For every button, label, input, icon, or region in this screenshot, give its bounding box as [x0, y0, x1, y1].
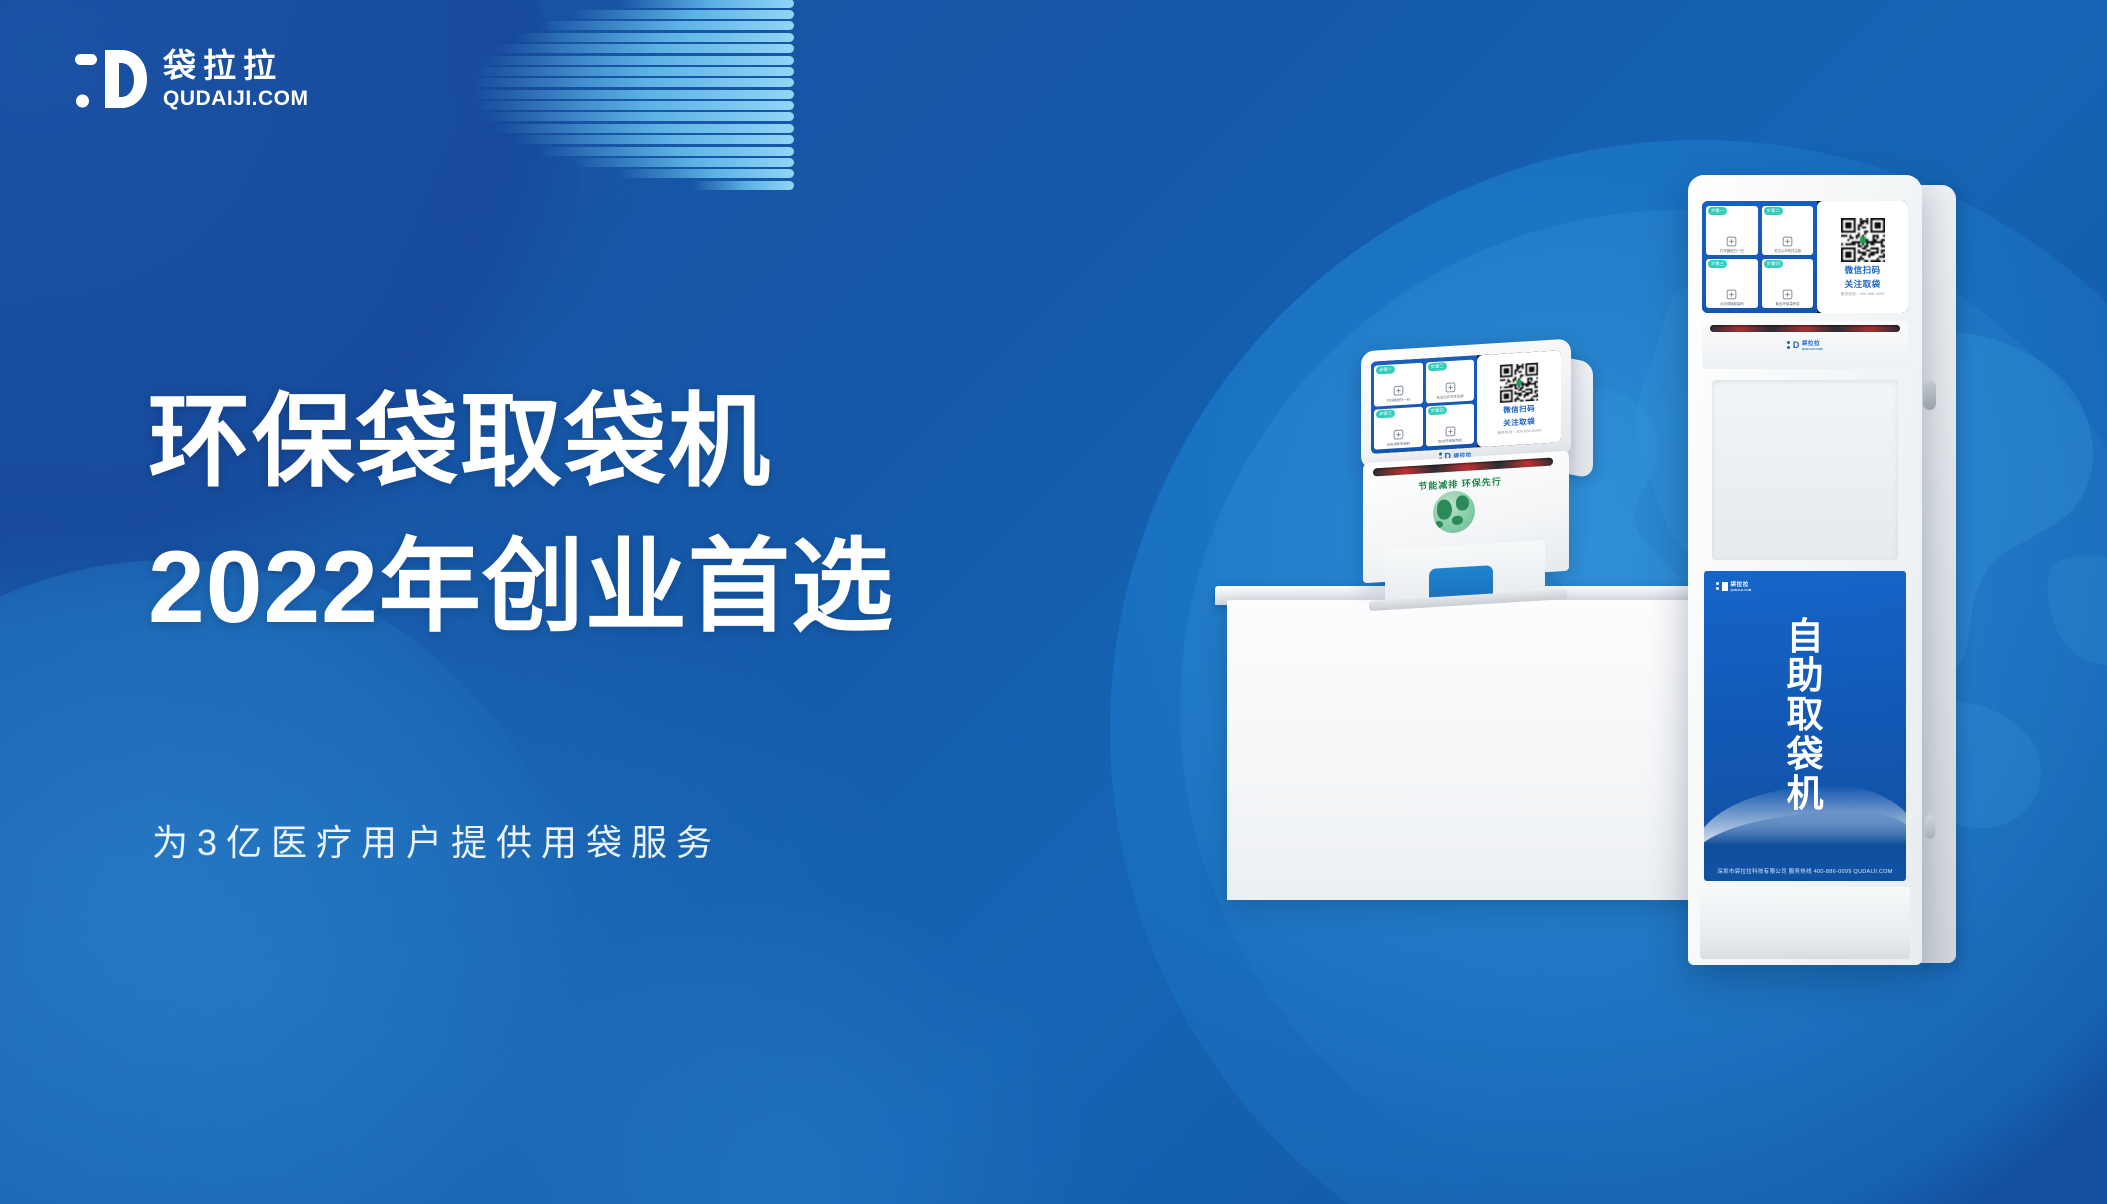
- qr-title-line-1: 微信扫码: [1845, 264, 1881, 276]
- step-tag: 步骤四: [1428, 406, 1447, 415]
- kiosk-title-char: 助: [1704, 656, 1906, 695]
- mini-machine-screen[interactable]: 步骤一打开微信扫一扫步骤二关注公众号并注册步骤三点击领取取袋码步骤四取出环保袋完…: [1371, 350, 1561, 454]
- qr-title-line-2: 关注取袋: [1503, 415, 1535, 428]
- step-card[interactable]: 步骤二关注公众号并注册: [1426, 359, 1475, 402]
- step-tag: 步骤一: [1708, 207, 1727, 215]
- step-text: 取出环保袋完成: [1438, 438, 1462, 444]
- brand-logo[interactable]: 袋拉拉 QUDAIJI.COM: [75, 48, 309, 110]
- floor-standing-bag-kiosk[interactable]: 步骤一打开微信扫一扫步骤二关注公众号并注册步骤三点击领取取袋码步骤四取出环保袋完…: [1688, 175, 1958, 965]
- kiosk-lock-knob-icon[interactable]: [1925, 815, 1935, 839]
- colon-d-logo-icon: [75, 48, 147, 110]
- step-tag: 步骤三: [1708, 260, 1727, 268]
- headline-line-1: 环保袋取袋机: [148, 370, 894, 515]
- kiosk-title-char: 袋: [1704, 735, 1906, 774]
- kiosk-panel-logo-en: QUDAIJI.COM: [1731, 588, 1752, 592]
- kiosk-panel-logo-cn: 袋拉拉: [1731, 580, 1752, 588]
- step-text: 打开微信扫一扫: [1386, 398, 1410, 404]
- step-tag: 步骤四: [1764, 260, 1783, 268]
- scan-qr-icon: [1725, 235, 1738, 248]
- kiosk-graphic-panel: D 袋拉拉 QUDAIJI.COM 自助取袋机 深圳市袋拉拉科技有限公司 服务热…: [1704, 571, 1906, 881]
- step-card[interactable]: 步骤三点击领取取袋码: [1706, 259, 1758, 308]
- qr-hotline: 服务热线：400-886-0099: [1497, 428, 1541, 436]
- colon-d-logo-icon: D: [1722, 582, 1729, 591]
- striped-halfcircle-decor-icon: [470, 0, 800, 201]
- colon-d-logo-icon: D: [1793, 341, 1800, 350]
- step-tag: 步骤二: [1764, 207, 1783, 215]
- kiosk-bag-chute: [1712, 380, 1898, 560]
- brand-wordmark: 袋拉拉 QUDAIJI.COM: [163, 49, 309, 109]
- service-counter: [1227, 600, 1737, 900]
- step-tag: 步骤一: [1376, 365, 1395, 374]
- qr-hotline: 服务热线：400-886-0099: [1841, 292, 1885, 297]
- kiosk-title-char: 自: [1704, 617, 1906, 656]
- kiosk-touch-screen[interactable]: 步骤一打开微信扫一扫步骤二关注公众号并注册步骤三点击领取取袋码步骤四取出环保袋完…: [1702, 201, 1908, 313]
- qr-title-line-2: 关注取袋: [1845, 278, 1881, 290]
- step-card[interactable]: 步骤三点击领取取袋码: [1374, 406, 1423, 449]
- bag-dispense-slot: [1710, 325, 1900, 332]
- hero-banner: 袋拉拉 QUDAIJI.COM 环保袋取袋机 2022年创业首选 为3亿医疗用户…: [0, 0, 2107, 1204]
- step-card[interactable]: 步骤二关注公众号并注册: [1762, 206, 1814, 255]
- kiosk-strip-logo-en: QUDAIJI.COM: [1802, 347, 1823, 351]
- screen-steps-panel: 步骤一打开微信扫一扫步骤二关注公众号并注册步骤三点击领取取袋码步骤四取出环保袋完…: [1702, 201, 1817, 313]
- step-text: 点击领取取袋码: [1720, 302, 1744, 306]
- kiosk-panel-brandmark: D 袋拉拉 QUDAIJI.COM: [1716, 580, 1751, 592]
- countertop-bag-dispenser[interactable]: 步骤一打开微信扫一扫步骤二关注公众号并注册步骤三点击领取取袋码步骤四取出环保袋完…: [1355, 345, 1595, 615]
- step-text: 点击领取取袋码: [1386, 441, 1410, 447]
- step-tag: 步骤三: [1376, 409, 1395, 418]
- follow-account-icon: [1444, 381, 1457, 395]
- take-bag-icon: [1781, 288, 1794, 301]
- wechat-qr-code-icon[interactable]: [1841, 218, 1885, 262]
- colon-d-logo-icon: [1787, 341, 1790, 349]
- hero-headline: 环保袋取袋机 2022年创业首选: [148, 370, 894, 660]
- step-card[interactable]: 步骤一打开微信扫一扫: [1706, 206, 1758, 255]
- step-card[interactable]: 步骤四取出环保袋完成: [1762, 259, 1814, 308]
- kiosk-lock-knob-icon[interactable]: [1923, 380, 1936, 410]
- step-text: 关注公众号并注册: [1436, 394, 1463, 400]
- kiosk-panel-footer: 深圳市袋拉拉科技有限公司 服务热线 400-886-0099 QUDAIJI.C…: [1704, 867, 1906, 875]
- step-tag: 步骤二: [1428, 362, 1447, 371]
- kiosk-vertical-title: 自助取袋机: [1704, 617, 1906, 813]
- brand-name-en: QUDAIJI.COM: [163, 88, 309, 109]
- follow-account-icon: [1781, 235, 1794, 248]
- step-card[interactable]: 步骤一打开微信扫一扫: [1374, 363, 1423, 406]
- screen-qr-panel: 微信扫码 关注取袋 服务热线：400-886-0099: [1477, 350, 1561, 447]
- step-text: 打开微信扫一扫: [1720, 249, 1744, 253]
- receive-code-icon: [1725, 288, 1738, 301]
- kiosk-base: [1700, 887, 1910, 959]
- screen-qr-panel: 微信扫码 关注取袋 服务热线：400-886-0099: [1817, 201, 1908, 313]
- kiosk-strip-logo-cn: 袋拉拉: [1802, 339, 1823, 347]
- step-text: 取出环保袋完成: [1776, 302, 1800, 306]
- qr-title-line-1: 微信扫码: [1503, 402, 1535, 415]
- wechat-qr-code-icon[interactable]: [1500, 362, 1538, 402]
- screen-steps-panel: 步骤一打开微信扫一扫步骤二关注公众号并注册步骤三点击领取取袋码步骤四取出环保袋完…: [1371, 355, 1477, 454]
- step-text: 关注公众号并注册: [1774, 249, 1801, 253]
- kiosk-title-char: 取: [1704, 695, 1906, 734]
- take-bag-icon: [1444, 424, 1457, 438]
- colon-d-logo-icon: [1716, 582, 1719, 590]
- headline-line-2: 2022年创业首选: [148, 515, 894, 660]
- step-card[interactable]: 步骤四取出环保袋完成: [1426, 403, 1475, 446]
- hero-subtitle: 为3亿医疗用户提供用袋服务: [152, 814, 721, 866]
- scan-qr-icon: [1392, 384, 1405, 398]
- brand-name-cn: 袋拉拉: [163, 49, 309, 82]
- receive-code-icon: [1392, 427, 1405, 441]
